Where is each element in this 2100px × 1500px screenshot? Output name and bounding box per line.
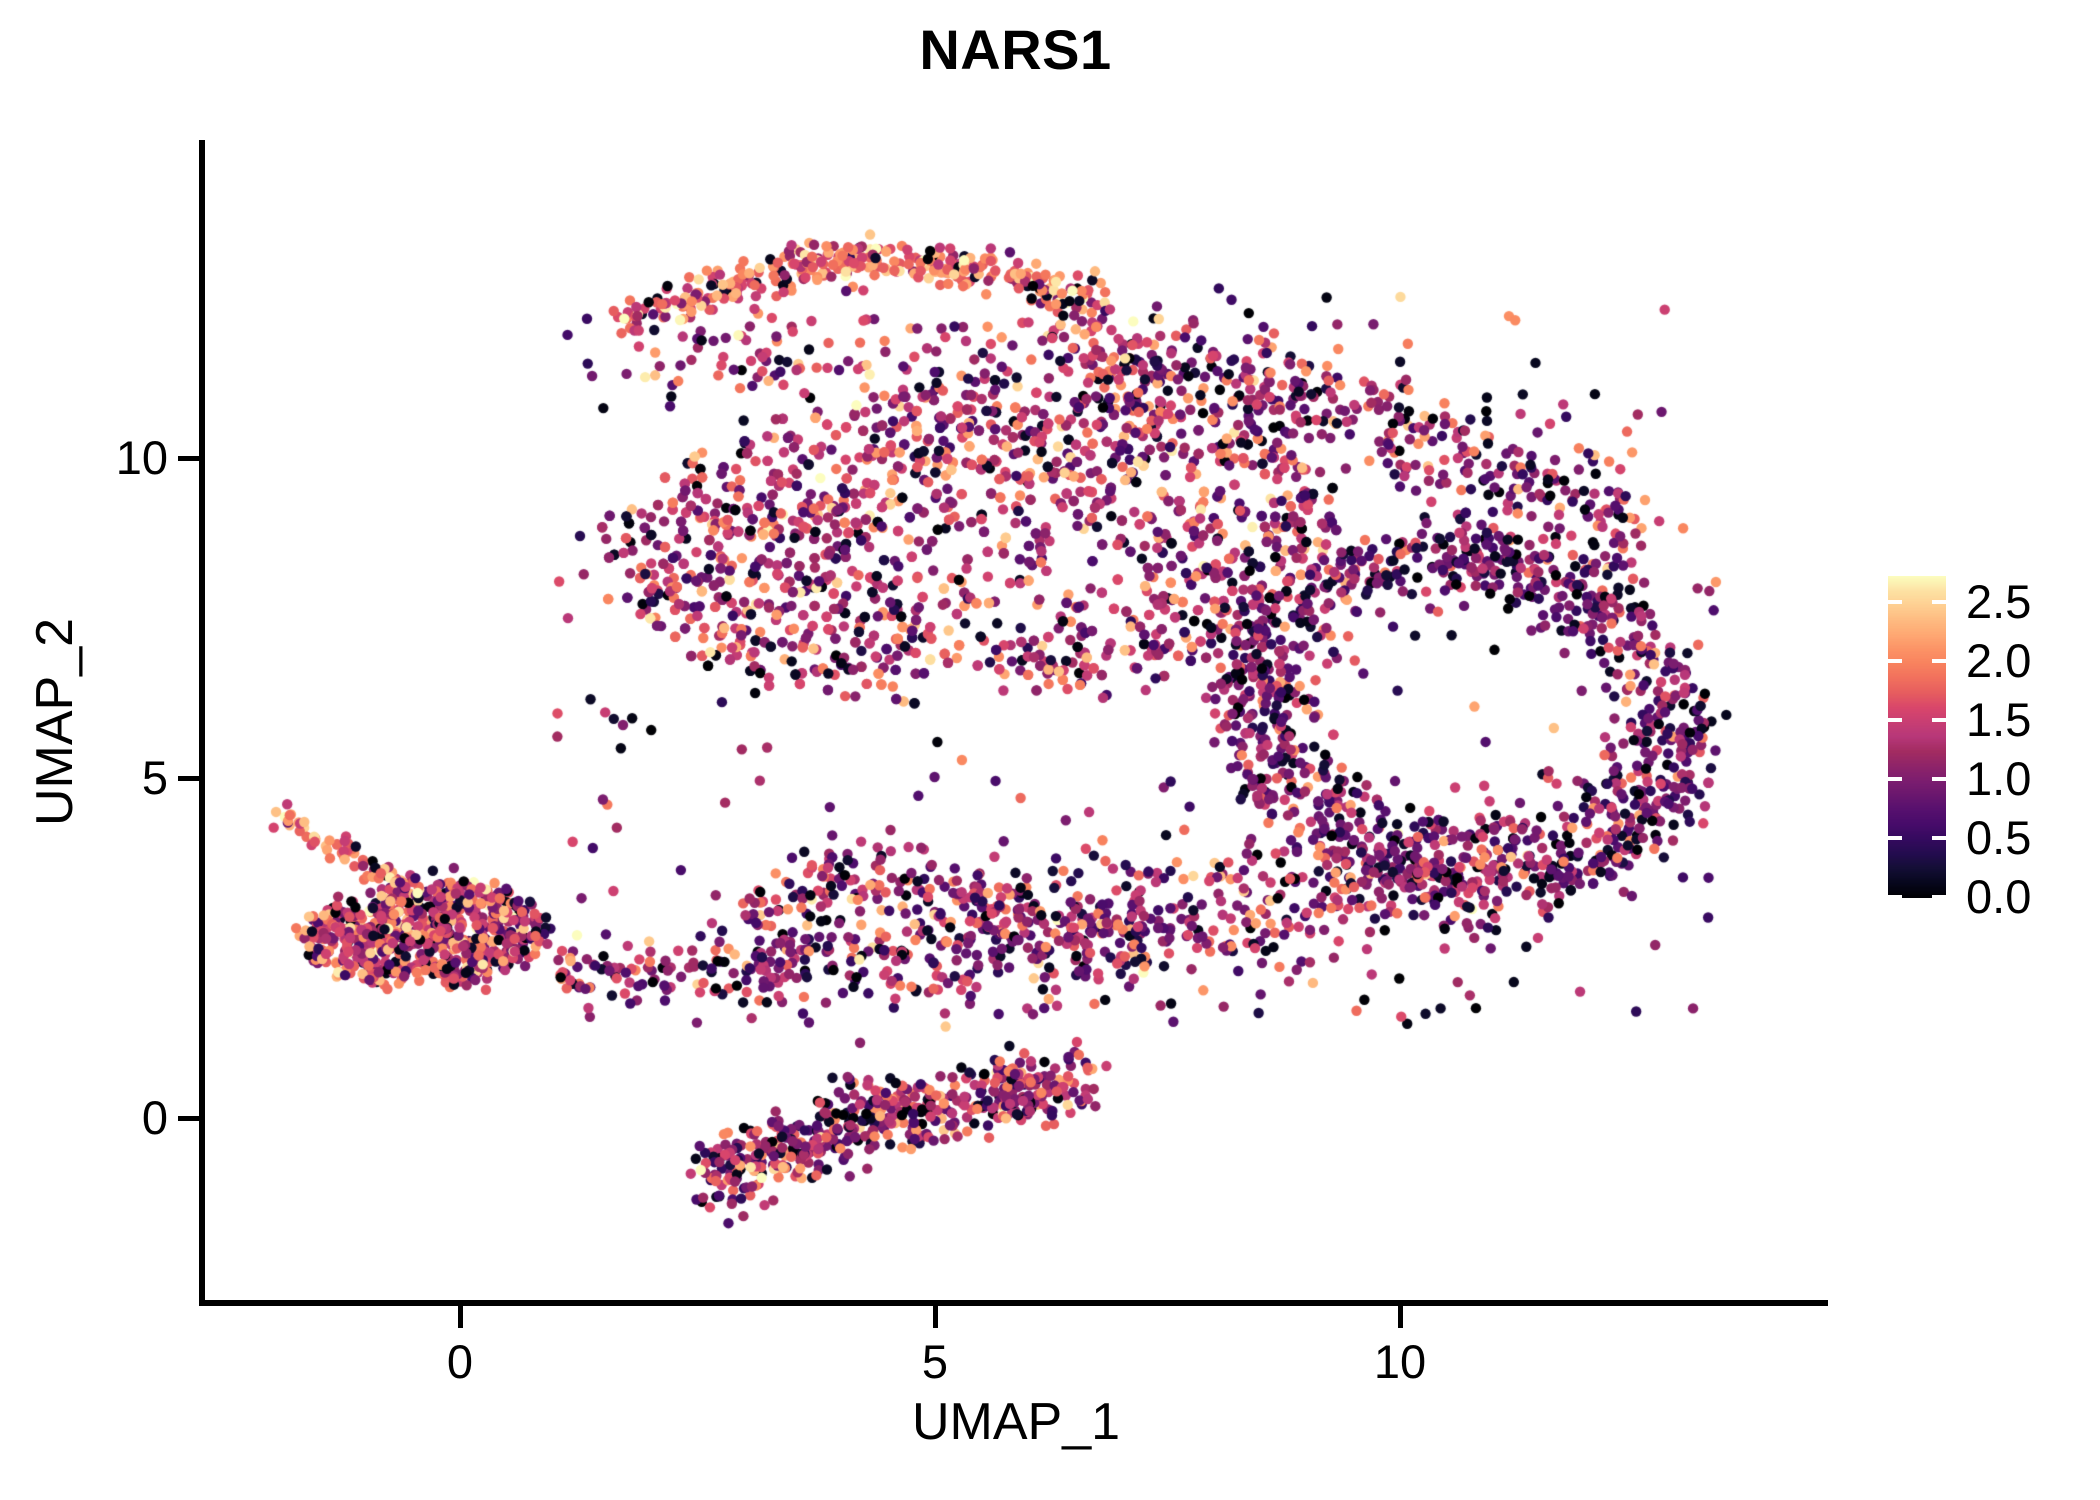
x-tick-label: 0 <box>380 1338 540 1385</box>
plot-panel <box>204 142 1828 1303</box>
x-tick-label: 10 <box>1320 1338 1480 1385</box>
x-axis-title: UMAP_1 <box>204 1396 1828 1448</box>
color-legend-tick-label: 0.5 <box>1966 814 2031 861</box>
y-axis-title: UMAP_2 <box>29 422 81 1022</box>
x-tick-mark <box>1398 1306 1403 1328</box>
color-legend-tick-label: 0.0 <box>1966 873 2031 920</box>
color-legend-tick-mark <box>1932 895 1946 899</box>
page-title: NARS1 <box>203 22 1828 78</box>
y-tick-mark <box>178 456 200 461</box>
color-legend-tick-mark <box>1932 718 1946 722</box>
color-legend-tick-label: 1.5 <box>1966 696 2031 743</box>
color-legend-tick-mark <box>1888 659 1902 663</box>
color-legend-tick-mark <box>1888 895 1902 899</box>
color-legend-tick-label: 2.0 <box>1966 637 2031 684</box>
color-legend-tick-label: 1.0 <box>1966 755 2031 802</box>
color-legend-tick-mark <box>1888 718 1902 722</box>
y-tick-mark <box>178 776 200 781</box>
y-tick-mark <box>178 1116 200 1121</box>
color-legend-tick-mark <box>1932 659 1946 663</box>
scatter-points-canvas <box>204 142 1828 1303</box>
color-legend-tick-mark <box>1888 836 1902 840</box>
x-tick-mark <box>458 1306 463 1328</box>
color-legend-tick-mark <box>1932 836 1946 840</box>
y-tick-label: 0 <box>0 1094 168 1141</box>
x-tick-label: 5 <box>855 1338 1015 1385</box>
color-legend-tick-mark <box>1888 600 1902 604</box>
y-axis-line <box>199 140 205 1306</box>
color-legend-gradient-bar <box>1888 576 1946 898</box>
x-axis-line <box>199 1300 1828 1306</box>
color-legend-tick-mark <box>1888 777 1902 781</box>
x-tick-mark <box>933 1306 938 1328</box>
color-legend-canvas <box>1888 576 1946 898</box>
color-legend-tick-label: 2.5 <box>1966 578 2031 625</box>
color-legend-tick-mark <box>1932 600 1946 604</box>
scatter-plot-figure: NARS1 0510 0510 UMAP_1 UMAP_2 2.52.01.51… <box>0 0 2100 1500</box>
color-legend-tick-mark <box>1932 777 1946 781</box>
y-tick-label: 10 <box>0 434 168 481</box>
